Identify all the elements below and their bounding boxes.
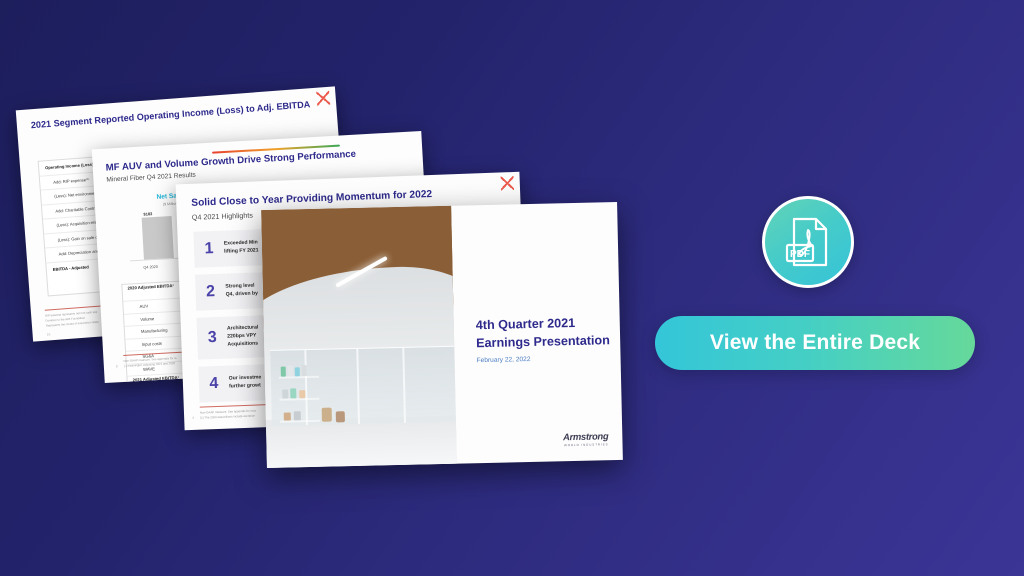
highlight-text: Exceeded Min lifting FY 2021 — [224, 240, 259, 257]
retail-product — [282, 390, 288, 399]
highlight-number: 3 — [197, 329, 228, 348]
bar-category-label: Q4 2020 — [143, 265, 158, 270]
page-number: 16 — [47, 332, 51, 336]
red-corner-mark-icon — [501, 176, 515, 190]
highlight-text: Strong level Q4, driven by — [225, 283, 258, 300]
retail-product — [299, 390, 305, 398]
logo-tagline: WORLD INDUSTRIES — [563, 442, 608, 447]
deck-slide-4-cover[interactable]: 4th Quarter 2021 Earnings Presentation F… — [261, 202, 623, 468]
highlight-number: 1 — [194, 240, 225, 259]
cover-title-line-1: 4th Quarter 2021 — [476, 316, 576, 332]
armstrong-logo: Armstrong WORLD INDUSTRIES — [563, 430, 609, 447]
cover-photo — [261, 206, 457, 468]
page-number: 8 — [116, 364, 118, 368]
slide-3-title: Solid Close to Year Providing Momentum f… — [191, 189, 432, 209]
highlight-text: Architectural 220bps VPY Acquisitions — [227, 325, 259, 350]
retail-product — [284, 412, 291, 420]
footnote-line: (1) The 2020 acquisitions include accret… — [200, 414, 255, 420]
retail-product — [290, 388, 296, 398]
cover-title: 4th Quarter 2021 Earnings Presentation — [476, 314, 610, 353]
slide-3-subtitle: Q4 2021 Highlights — [192, 211, 253, 222]
retail-display-basket — [322, 408, 332, 422]
cta-section: PDF View the Entire Deck — [650, 196, 980, 382]
view-entire-deck-button[interactable]: View the Entire Deck — [655, 316, 975, 370]
slide-deck-stack: 2021 Segment Reported Operating Income (… — [0, 0, 660, 576]
svg-text:PDF: PDF — [790, 249, 810, 260]
red-corner-mark-icon — [316, 91, 330, 106]
highlight-number: 2 — [195, 283, 226, 302]
cover-title-line-2: Earnings Presentation — [476, 333, 610, 350]
highlight-text: Our investme further growt — [229, 374, 262, 391]
retail-product — [302, 365, 307, 376]
pdf-file-icon[interactable]: PDF — [762, 196, 854, 288]
logo-wordmark: Armstrong — [563, 430, 608, 442]
cover-date: February 22, 2022 — [477, 356, 531, 364]
retail-product — [288, 365, 293, 376]
page-number: 4 — [192, 416, 194, 420]
bar-value-label: $183 — [143, 211, 152, 216]
retail-product — [294, 411, 301, 420]
slide-2-subtitle: Mineral Fiber Q4 2021 Results — [106, 172, 196, 184]
retail-floor — [266, 422, 457, 468]
retail-display-basket — [336, 411, 345, 422]
highlight-number: 4 — [199, 375, 230, 394]
retail-product — [295, 367, 300, 376]
retail-product — [281, 367, 286, 377]
slide-1-title: 2021 Segment Reported Operating Income (… — [31, 99, 311, 130]
chart-bar — [142, 216, 174, 260]
